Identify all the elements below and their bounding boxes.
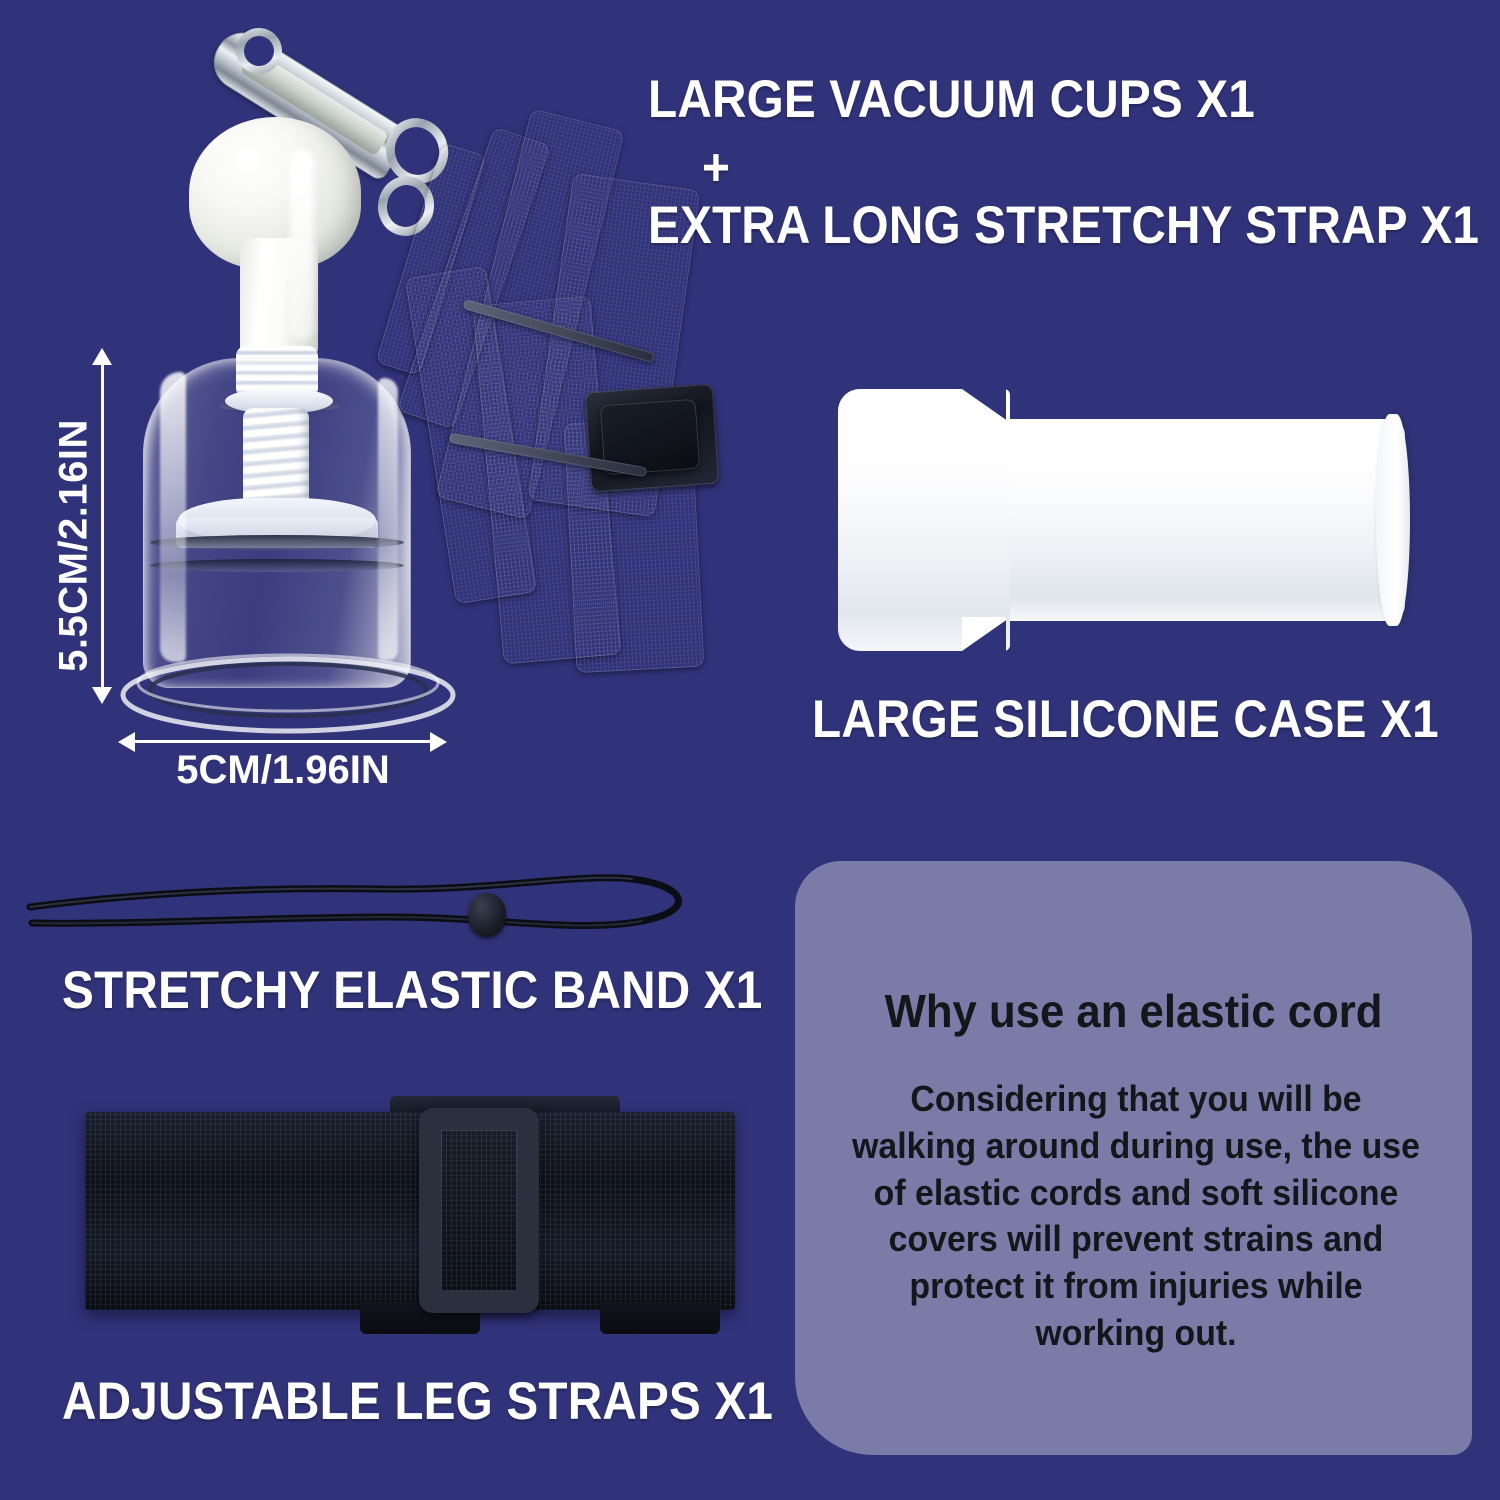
dimension-width-line <box>132 740 432 743</box>
arrow-down-icon <box>92 687 112 704</box>
info-card: Why use an elastic cord Considering that… <box>795 861 1472 1455</box>
heading-stretchy-strap: EXTRA LONG STRETCHY STRAP X1 <box>648 198 1479 254</box>
heading-leg-straps: ADJUSTABLE LEG STRAPS X1 <box>62 1374 773 1430</box>
silicone-case-bevel-bottom <box>962 617 1006 651</box>
cup-knob-highlight <box>290 150 314 340</box>
dimension-width-label: 5CM/1.96IN <box>118 748 448 793</box>
glass-highlight-right <box>378 378 398 660</box>
dimension-height-label: 5.5CM/2.16IN <box>52 416 97 676</box>
heading-plus-symbol: + <box>702 140 730 196</box>
silicone-case-end-cap <box>1376 414 1410 626</box>
silicone-case-bevel-top <box>962 389 1006 423</box>
heading-elastic-band: STRETCHY ELASTIC BAND X1 <box>62 963 762 1019</box>
heading-silicone-case: LARGE SILICONE CASE X1 <box>812 692 1439 748</box>
dimension-height-line <box>101 362 104 692</box>
cup-dark-ring-upper <box>150 535 404 550</box>
elastic-cord-strands <box>20 845 720 955</box>
leg-strap-slider-buckle <box>419 1108 539 1313</box>
infographic-canvas: 5.5CM/2.16IN 5CM/1.96IN LARGE VACUUM CUP… <box>0 0 1500 1500</box>
leg-strap-webbing <box>85 1112 735 1310</box>
glass-highlight-left <box>160 372 186 662</box>
info-card-title: Why use an elastic cord <box>812 984 1455 1038</box>
leg-strap-fold-bottom-right <box>600 1302 720 1334</box>
cord-lock-toggle <box>468 893 506 937</box>
silicone-case-barrel <box>975 419 1405 621</box>
silicone-case-base <box>838 389 1010 651</box>
info-card-body: Considering that you will be walking aro… <box>849 1076 1422 1357</box>
heading-vacuum-cups: LARGE VACUUM CUPS X1 <box>648 72 1255 128</box>
cup-dark-ring-lower <box>150 559 404 572</box>
